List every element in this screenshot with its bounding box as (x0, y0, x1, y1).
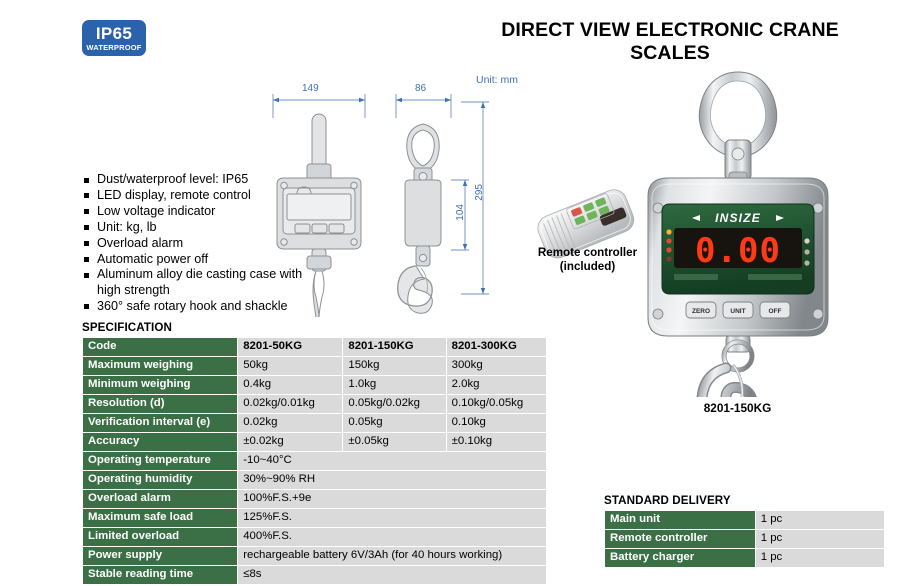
table-row: Maximum weighing 50kg 150kg 300kg (83, 357, 546, 375)
button-unit-label: UNIT (730, 308, 745, 315)
row-value: 125%F.S. (238, 509, 546, 527)
led-display-value: 0.00 (695, 231, 781, 271)
table-row: Accuracy ±0.02kg ±0.05kg ±0.10kg (83, 433, 546, 451)
bullet-icon (84, 304, 89, 309)
row-value: 8201-50KG (238, 338, 342, 356)
row-value: 50kg (238, 357, 342, 375)
feature-text: Unit: kg, lb (97, 220, 157, 234)
drawing-unit-label: Unit: mm (476, 74, 518, 86)
table-row: Minimum weighing 0.4kg 1.0kg 2.0kg (83, 376, 546, 394)
row-label: Verification interval (e) (83, 414, 237, 432)
product-photo: INSIZE 0.00 ZERO UNIT OFF (630, 62, 845, 397)
dim-front-width: 149 (302, 83, 319, 94)
row-label: Overload alarm (83, 490, 237, 508)
row-label: Limited overload (83, 528, 237, 546)
bullet-icon (84, 193, 89, 198)
row-value: 30%~90% RH (238, 471, 546, 489)
dim-side-width: 86 (415, 83, 426, 94)
crane-scale-svg: INSIZE 0.00 ZERO UNIT OFF (630, 62, 845, 397)
row-value: 150kg (343, 357, 445, 375)
row-value: 0.05kg (343, 414, 445, 432)
row-value: 0.10kg (447, 414, 546, 432)
row-value: 1.0kg (343, 376, 445, 394)
product-caption: 8201-150KG (630, 401, 845, 415)
row-value: 8201-150KG (343, 338, 445, 356)
table-row: Remote controller 1 pc (605, 530, 884, 548)
row-value: 0.02kg/0.01kg (238, 395, 342, 413)
table-row: Overload alarm 100%F.S.+9e (83, 490, 546, 508)
ip65-badge-rating: IP65 (96, 25, 132, 42)
table-row: Maximum safe load 125%F.S. (83, 509, 546, 527)
row-value: ±0.10kg (447, 433, 546, 451)
table-row: Operating temperature -10~40°C (83, 452, 546, 470)
button-zero-label: ZERO (692, 308, 710, 315)
feature-text: LED display, remote control (97, 188, 251, 202)
row-value: 0.02kg (238, 414, 342, 432)
row-value: 100%F.S.+9e (238, 490, 546, 508)
row-label: Minimum weighing (83, 376, 237, 394)
row-label: Accuracy (83, 433, 237, 451)
ip65-waterproof-badge: IP65 WATERPROOF (82, 20, 146, 56)
row-value: ±0.02kg (238, 433, 342, 451)
row-label: Main unit (605, 511, 755, 529)
row-value: 400%F.S. (238, 528, 546, 546)
feature-text: Low voltage indicator (97, 204, 215, 218)
row-value: 2.0kg (447, 376, 546, 394)
row-value: 1 pc (756, 530, 884, 548)
button-off-label: OFF (769, 308, 782, 315)
table-row: Operating humidity 30%~90% RH (83, 471, 546, 489)
table-row: Verification interval (e) 0.02kg 0.05kg … (83, 414, 546, 432)
row-value: rechargeable battery 6V/3Ah (for 40 hour… (238, 547, 546, 565)
table-row: Stable reading time ≤8s (83, 566, 546, 584)
feature-text: Overload alarm (97, 236, 183, 250)
table-row: Limited overload 400%F.S. (83, 528, 546, 546)
brand-text: INSIZE (715, 211, 761, 225)
table-row: Main unit 1 pc (605, 511, 884, 529)
page-title: DIRECT VIEW ELECTRONIC CRANE SCALES (460, 19, 880, 65)
row-value: 300kg (447, 357, 546, 375)
bullet-icon (84, 225, 89, 230)
row-value: ±0.05kg (343, 433, 445, 451)
feature-text: Automatic power off (97, 252, 208, 266)
row-label: Operating temperature (83, 452, 237, 470)
row-label: Maximum weighing (83, 357, 237, 375)
specification-heading: SPECIFICATION (82, 321, 172, 334)
row-label: Battery charger (605, 549, 755, 567)
row-label: Resolution (d) (83, 395, 237, 413)
standard-delivery-heading: STANDARD DELIVERY (604, 494, 731, 507)
specification-table: Code 8201-50KG 8201-150KG 8201-300KG Max… (82, 337, 547, 585)
row-value: 8201-300KG (447, 338, 546, 356)
bullet-icon (84, 273, 89, 278)
bullet-icon (84, 178, 89, 183)
row-value: 0.4kg (238, 376, 342, 394)
standard-delivery-table: Main unit 1 pc Remote controller 1 pc Ba… (604, 510, 885, 568)
ip65-badge-subtitle: WATERPROOF (86, 44, 141, 52)
dim-body-height: 104 (455, 204, 466, 221)
row-value: -10~40°C (238, 452, 546, 470)
row-value: 1 pc (756, 511, 884, 529)
row-label: Operating humidity (83, 471, 237, 489)
row-label: Maximum safe load (83, 509, 237, 527)
technical-drawing: Unit: mm (255, 72, 520, 317)
row-label: Remote controller (605, 530, 755, 548)
dim-total-height: 295 (474, 184, 485, 201)
row-value: 1 pc (756, 549, 884, 567)
row-label: Code (83, 338, 237, 356)
feature-text: Dust/waterproof level: IP65 (97, 172, 248, 186)
table-row: Resolution (d) 0.02kg/0.01kg 0.05kg/0.02… (83, 395, 546, 413)
table-row: Battery charger 1 pc (605, 549, 884, 567)
bullet-icon (84, 241, 89, 246)
row-value: 0.05kg/0.02kg (343, 395, 445, 413)
row-label: Stable reading time (83, 566, 237, 584)
bullet-icon (84, 209, 89, 214)
bullet-icon (84, 257, 89, 262)
row-value: 0.10kg/0.05kg (447, 395, 546, 413)
catalog-page: IP65 WATERPROOF DIRECT VIEW ELECTRONIC C… (0, 0, 900, 586)
row-value: ≤8s (238, 566, 546, 584)
row-label: Power supply (83, 547, 237, 565)
table-row: Power supply rechargeable battery 6V/3Ah… (83, 547, 546, 565)
table-row: Code 8201-50KG 8201-150KG 8201-300KG (83, 338, 546, 356)
